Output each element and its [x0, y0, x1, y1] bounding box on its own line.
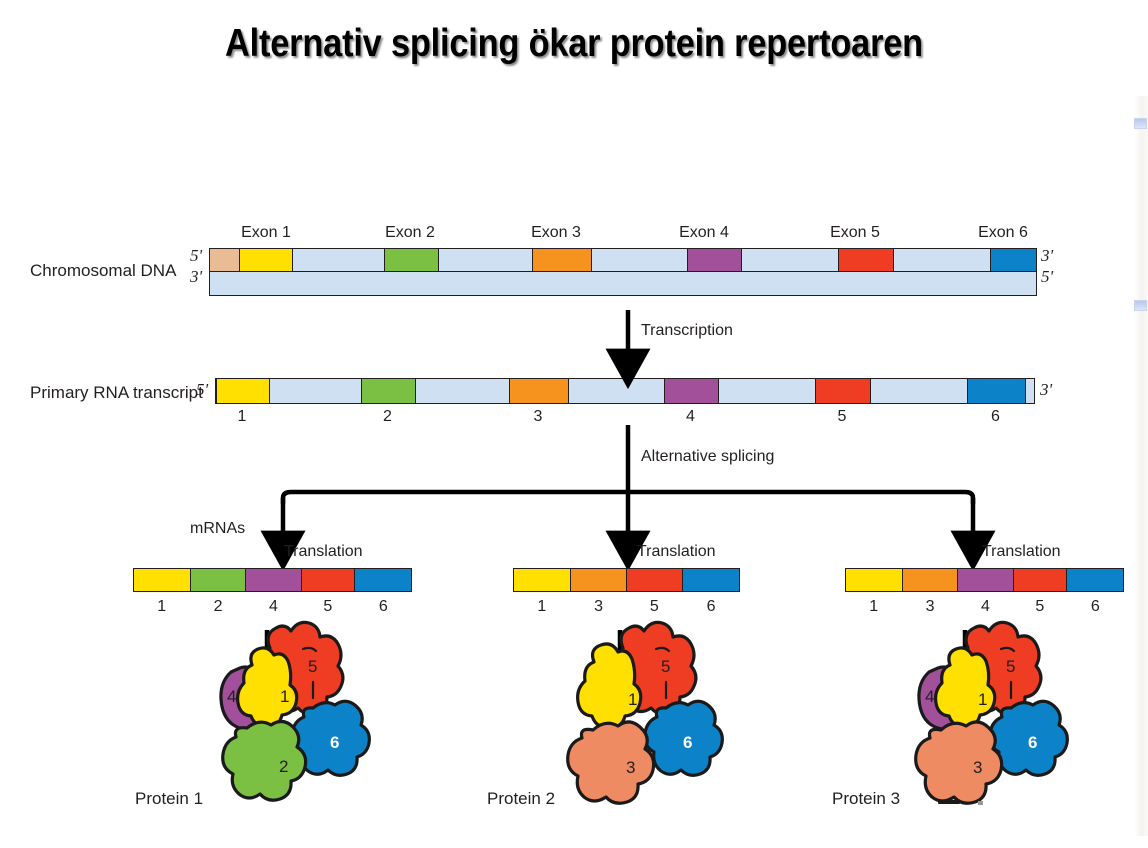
subunit-3-blob — [568, 722, 654, 803]
figure-panel: Exon 1 Exon 2 Exon 3 Exon 4 Exon 5 Exon … — [0, 100, 1110, 825]
primary-rna-bar — [215, 378, 1035, 404]
exon-6 — [967, 379, 1026, 403]
subunit-label-4: 4 — [227, 687, 236, 706]
subunit-label-5: 5 — [1006, 657, 1015, 676]
subunit-label-5: 5 — [661, 657, 670, 676]
exon-4 — [246, 569, 301, 591]
dna-prime-3-right: 3' — [1041, 246, 1053, 266]
exon-caption-5: Exon 5 — [805, 224, 905, 242]
protein-label-1: Protein 1 — [135, 789, 203, 809]
subunit-1-blob — [578, 644, 641, 728]
dna-prime-5-right: 5' — [1041, 267, 1053, 287]
subunit-label-1: 1 — [628, 690, 637, 709]
exon-2 — [191, 569, 246, 591]
exon-5 — [302, 569, 355, 591]
exon-1 — [216, 379, 270, 403]
intron-1 — [270, 379, 361, 403]
rna-exon-number-3: 3 — [508, 408, 568, 426]
intron-2 — [416, 379, 509, 403]
scrollbar-thumb-bottom[interactable] — [1134, 300, 1147, 311]
slide-canvas: Alternativ splicing ökar protein reperto… — [0, 0, 1148, 848]
protein-complex-1: 4 5 1 2 6 — [195, 610, 425, 825]
rna-exon-number-1: 1 — [215, 408, 269, 426]
exon-5 — [627, 569, 683, 591]
intron-5 — [894, 249, 990, 271]
dna-prime-5-left: 5' — [190, 246, 202, 266]
protein-complex-3: 4 5 1 3 6 — [893, 610, 1123, 825]
intron-5 — [871, 379, 967, 403]
subunit-3-blob — [916, 722, 1002, 803]
translation-label-2: Translation — [637, 543, 716, 561]
subunit-label-6: 6 — [683, 733, 692, 752]
dna-strand-bottom — [1036, 249, 1037, 272]
exon-caption-4: Exon 4 — [654, 224, 754, 242]
subunit-label-6: 6 — [330, 733, 339, 752]
exon-5 — [838, 249, 894, 271]
dna-prime-3-left: 3' — [190, 267, 202, 287]
rna-prime-3: 3' — [1040, 380, 1052, 400]
exon-2 — [361, 379, 416, 403]
mrna-bar-3 — [845, 568, 1124, 592]
page-title: Alternativ splicing ökar protein reperto… — [69, 22, 1079, 66]
protein-label-3: Protein 3 — [832, 789, 900, 809]
dna-strand-top — [210, 249, 1036, 272]
intron-3 — [569, 379, 664, 403]
rna-exon-number-6: 6 — [966, 408, 1025, 426]
exon-5 — [815, 379, 871, 403]
mrna-exon-number: 1 — [133, 598, 190, 616]
exon-6 — [990, 249, 1037, 271]
intron-4 — [719, 379, 815, 403]
scrollbar-track[interactable] — [1134, 96, 1148, 836]
exon-caption-1: Exon 1 — [216, 224, 316, 242]
exon-caption-6: Exon 6 — [953, 224, 1053, 242]
exon-3 — [509, 379, 569, 403]
utr-left — [210, 249, 239, 271]
mrnas-label: mRNAs — [190, 520, 245, 538]
exon-6 — [683, 569, 739, 591]
exon-1 — [239, 249, 293, 271]
scrollbar-thumb-top[interactable] — [1134, 118, 1147, 129]
bottom-marker-dash — [938, 800, 960, 804]
subunit-1-blob — [936, 648, 995, 727]
intron-4 — [742, 249, 838, 271]
subunit-2-blob — [223, 721, 306, 800]
exon-4 — [687, 249, 742, 271]
intron-3 — [592, 249, 687, 271]
exon-3 — [532, 249, 592, 271]
protein-complex-2: 5 1 3 6 — [548, 610, 778, 825]
translation-label-3: Translation — [982, 543, 1061, 561]
mrna-bar-1 — [133, 568, 412, 592]
exon-caption-2: Exon 2 — [360, 224, 460, 242]
subunit-label-1: 1 — [978, 690, 987, 709]
rna-exon-number-4: 4 — [663, 408, 718, 426]
exon-1 — [846, 569, 903, 591]
rna-exon-number-2: 2 — [360, 408, 415, 426]
transcription-label: Transcription — [641, 322, 733, 340]
exon-1 — [134, 569, 191, 591]
exon-4 — [664, 379, 719, 403]
bottom-marker-dot — [978, 801, 983, 805]
primary-rna-label: Primary RNA transcript — [30, 383, 203, 403]
alternative-splicing-label: Alternative splicing — [641, 448, 774, 466]
chromosomal-dna-bar — [209, 248, 1037, 296]
subunit-label-4: 4 — [925, 687, 934, 706]
exon-6 — [355, 569, 411, 591]
translation-label-1: Translation — [284, 543, 363, 561]
chromosomal-dna-label: Chromosomal DNA — [30, 261, 176, 281]
subunit-label-3: 3 — [973, 758, 982, 777]
subunit-label-2: 2 — [279, 757, 288, 776]
subunit-label-5: 5 — [308, 657, 317, 676]
mrna-bar-2 — [513, 568, 740, 592]
utr-left — [1036, 249, 1037, 272]
exon-5 — [1014, 569, 1067, 591]
rna-exon-number-5: 5 — [814, 408, 870, 426]
subunit-label-1: 1 — [280, 687, 289, 706]
subunit-label-3: 3 — [626, 758, 635, 777]
exon-6 — [1067, 569, 1123, 591]
exon-caption-3: Exon 3 — [506, 224, 606, 242]
intron-1 — [293, 249, 384, 271]
exon-1 — [514, 569, 571, 591]
protein-label-2: Protein 2 — [487, 789, 555, 809]
exon-4 — [958, 569, 1013, 591]
exon-2 — [384, 249, 439, 271]
intron-2 — [439, 249, 532, 271]
rna-prime-5: 5' — [196, 380, 208, 400]
subunit-label-6: 6 — [1028, 733, 1037, 752]
exon-3 — [571, 569, 627, 591]
exon-3 — [903, 569, 958, 591]
